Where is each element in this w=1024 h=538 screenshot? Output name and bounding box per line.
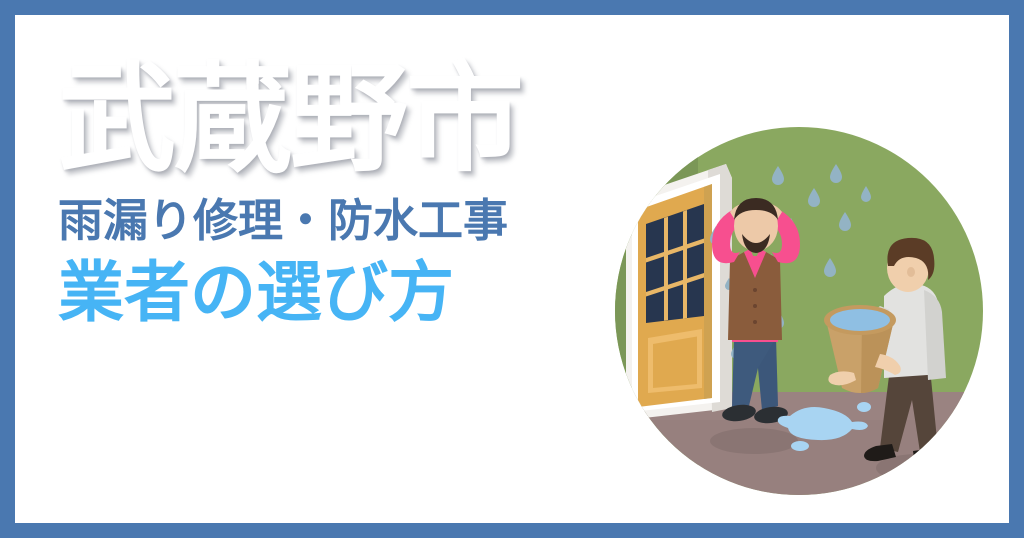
page-title: 武蔵野市 xyxy=(58,60,678,180)
text-block: 武蔵野市 雨漏り修理・防水工事 業者の選び方 xyxy=(58,60,678,328)
person-left-vest-button xyxy=(753,320,757,324)
door-group xyxy=(626,164,732,420)
door-lower-panel-inner xyxy=(653,337,697,389)
person-right-shoe xyxy=(913,448,940,465)
person-right-ear xyxy=(907,267,915,277)
bucket-water xyxy=(830,309,890,331)
illustration-leak-scene xyxy=(608,120,990,502)
banner-frame: 武蔵野市 雨漏り修理・防水工事 業者の選び方 xyxy=(0,0,1024,538)
person-left-vest-button xyxy=(753,288,757,292)
door-slab-edge xyxy=(704,184,712,399)
subtitle: 雨漏り修理・防水工事 xyxy=(58,196,678,246)
tagline: 業者の選び方 xyxy=(58,256,678,329)
door-mullion-v1 xyxy=(664,217,668,321)
banner-card: 武蔵野市 雨漏り修理・防水工事 業者の選び方 xyxy=(15,15,1009,523)
person-left-shadow xyxy=(710,428,798,454)
puddle-drop-small xyxy=(791,441,809,451)
puddle-drop xyxy=(857,402,871,412)
door-mullion-v2 xyxy=(683,210,687,319)
person-left-vest-button xyxy=(753,304,757,308)
illustration-svg xyxy=(608,120,990,502)
door-glass-opening xyxy=(646,204,704,323)
